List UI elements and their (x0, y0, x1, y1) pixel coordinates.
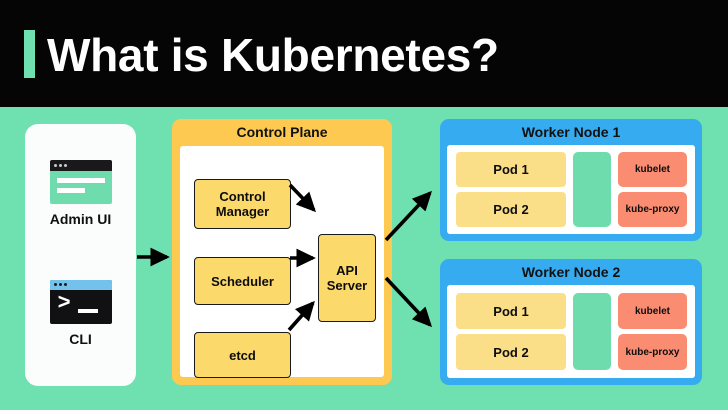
client-cli[interactable]: > CLI (25, 280, 136, 347)
worker-node-2-container-runtime (573, 293, 611, 370)
title-accent-bar (24, 30, 35, 78)
client-admin-ui[interactable]: Admin UI (25, 160, 136, 227)
worker-node-2-kube-proxy[interactable]: kube-proxy (618, 334, 687, 370)
worker-node-2-pod-2[interactable]: Pod 2 (456, 334, 566, 370)
worker-node-1-container-runtime (573, 152, 611, 227)
worker-node-1-panel: Worker Node 1 Pod 1 Pod 2 kubelet kube-p… (440, 119, 702, 241)
clients-card: Admin UI > CLI (25, 124, 136, 386)
control-plane-panel: Control Plane Control Manager Scheduler … (172, 119, 392, 385)
worker-node-1-kube-proxy[interactable]: kube-proxy (618, 192, 687, 227)
worker-node-1-body: Pod 1 Pod 2 kubelet kube-proxy (447, 145, 695, 234)
browser-window-icon (50, 160, 112, 204)
api-server-box[interactable]: API Server (318, 234, 376, 322)
worker-node-2-title: Worker Node 2 (440, 259, 702, 285)
page-title: What is Kubernetes? (47, 20, 687, 90)
etcd-box[interactable]: etcd (194, 332, 291, 378)
terminal-cursor-glyph (78, 309, 98, 313)
terminal-icon: > (50, 280, 112, 324)
control-plane-body: Control Manager Scheduler etcd API Serve… (180, 146, 384, 377)
worker-node-2-panel: Worker Node 2 Pod 1 Pod 2 kubelet kube-p… (440, 259, 702, 385)
terminal-prompt-glyph: > (58, 292, 71, 316)
worker-node-1-pod-1[interactable]: Pod 1 (456, 152, 566, 187)
scheduler-box[interactable]: Scheduler (194, 257, 291, 305)
worker-node-2-kubelet[interactable]: kubelet (618, 293, 687, 329)
worker-node-1-kubelet[interactable]: kubelet (618, 152, 687, 187)
slide-header: What is Kubernetes? (0, 0, 728, 107)
worker-node-2-body: Pod 1 Pod 2 kubelet kube-proxy (447, 285, 695, 378)
worker-node-1-title: Worker Node 1 (440, 119, 702, 145)
control-plane-title: Control Plane (172, 119, 392, 146)
client-admin-ui-label: Admin UI (25, 211, 136, 227)
slide-canvas: What is Kubernetes? Admin UI > CLI Contr… (0, 0, 728, 410)
client-cli-label: CLI (25, 331, 136, 347)
arrow-api-server-to-worker-node-2 (386, 278, 430, 325)
control-manager-box[interactable]: Control Manager (194, 179, 291, 229)
arrow-api-server-to-worker-node-1 (386, 193, 430, 240)
worker-node-1-pod-2[interactable]: Pod 2 (456, 192, 566, 227)
worker-node-2-pod-1[interactable]: Pod 1 (456, 293, 566, 329)
